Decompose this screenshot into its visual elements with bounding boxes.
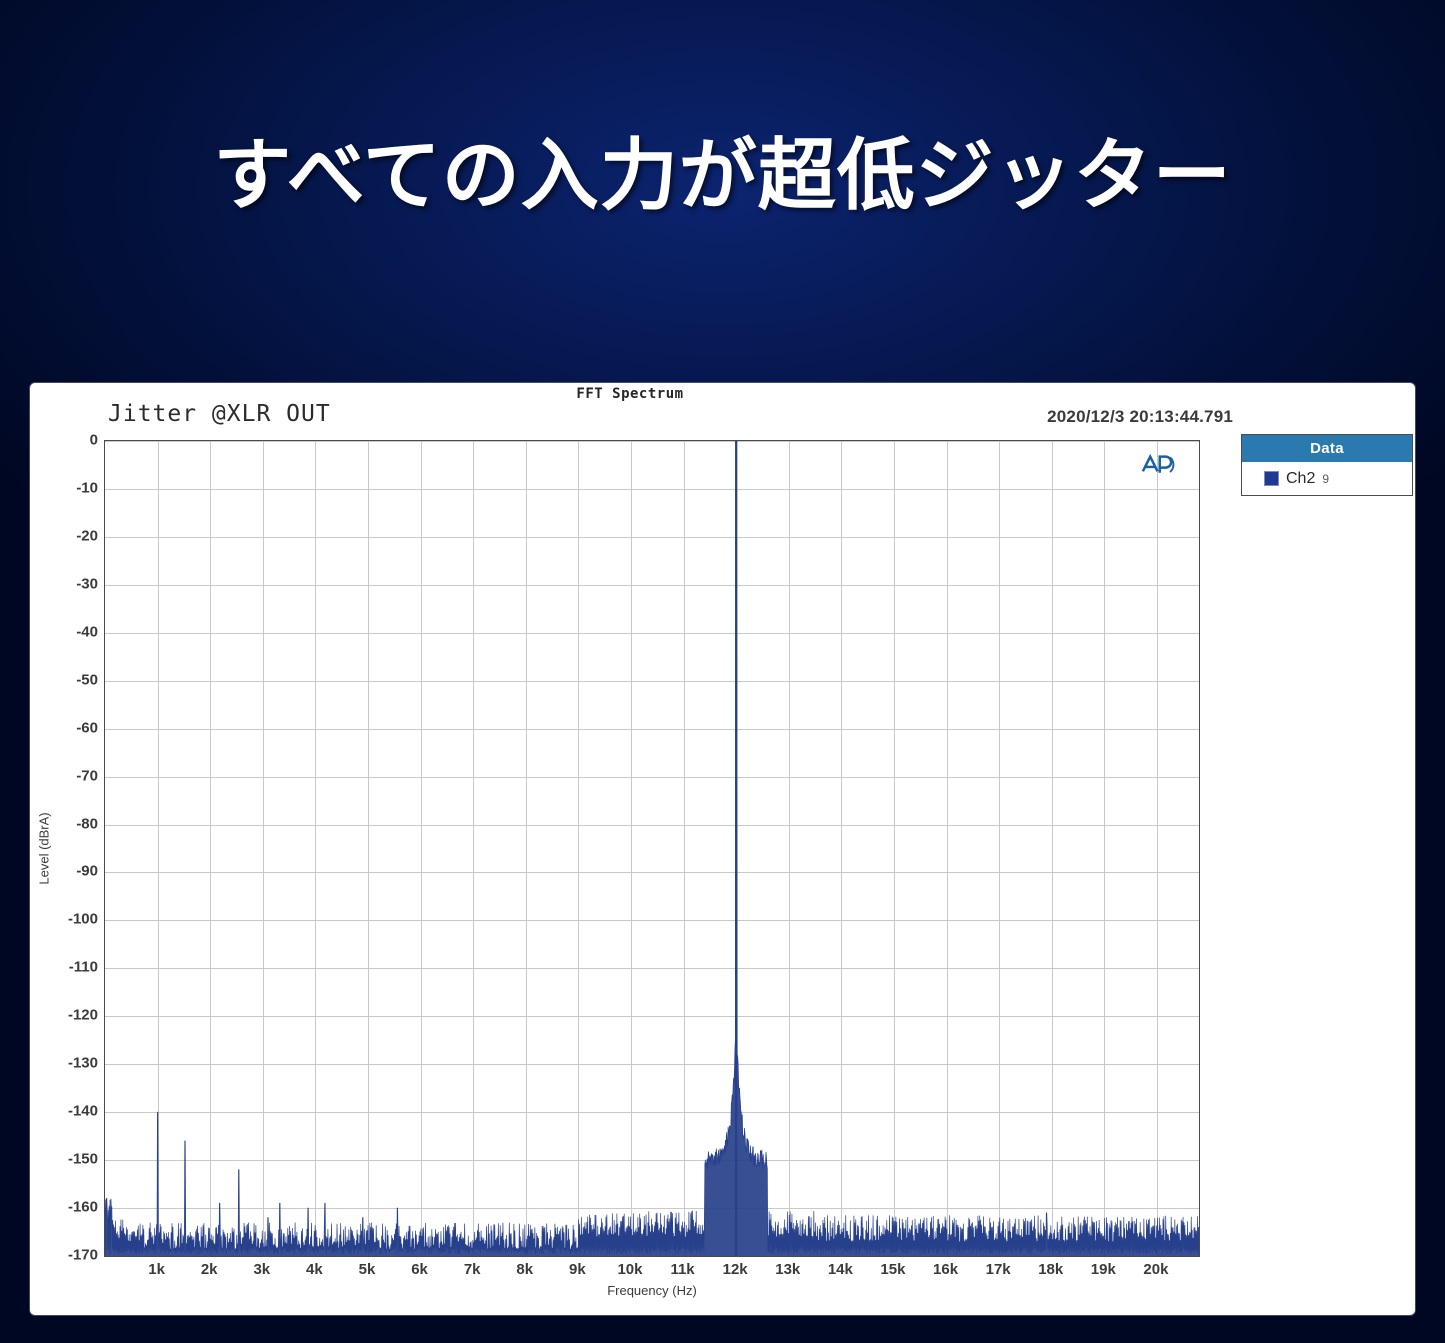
y-axis-tick-label: -50 — [36, 671, 98, 688]
y-axis-tick-label: -40 — [36, 623, 98, 640]
legend-header: Data — [1242, 435, 1412, 462]
x-axis-tick-label: 8k — [516, 1261, 533, 1278]
y-axis-tick-label: -70 — [36, 767, 98, 784]
gridline-horizontal — [105, 1256, 1199, 1257]
x-axis-tick-label: 11k — [670, 1261, 694, 1278]
x-axis-tick-label: 10k — [617, 1261, 642, 1278]
x-axis-tick-label: 19k — [1091, 1261, 1116, 1278]
x-axis-tick-label: 15k — [880, 1261, 905, 1278]
y-axis-tick-label: -110 — [36, 959, 98, 976]
ap-logo-icon — [1137, 449, 1181, 479]
legend-item-sublabel: 9 — [1322, 472, 1329, 486]
x-axis-tick-label: 9k — [569, 1261, 586, 1278]
legend-box[interactable]: Data Ch2 9 — [1241, 434, 1413, 496]
y-axis-tick-label: -130 — [36, 1055, 98, 1072]
y-axis-tick-label: -60 — [36, 719, 98, 736]
x-axis-tick-label: 12k — [723, 1261, 748, 1278]
x-axis-tick-label: 3k — [253, 1261, 270, 1278]
y-axis-tick-label: -10 — [36, 479, 98, 496]
legend-item-label: Ch2 — [1286, 470, 1315, 488]
x-axis-tick-label: 4k — [306, 1261, 323, 1278]
x-axis-tick-label: 17k — [986, 1261, 1011, 1278]
x-axis-label: Frequency (Hz) — [104, 1283, 1200, 1298]
y-axis-tick-label: -80 — [36, 815, 98, 832]
trace-ch2 — [105, 441, 1199, 1256]
y-axis-tick-label: -150 — [36, 1151, 98, 1168]
y-axis-tick-label: -140 — [36, 1103, 98, 1120]
spectrum-plot[interactable] — [104, 440, 1200, 1257]
chart-caption: Jitter @XLR OUT — [108, 401, 331, 427]
y-axis-tick-label: -30 — [36, 575, 98, 592]
spectrum-trace — [105, 441, 1199, 1256]
y-axis-tick-label: -170 — [36, 1247, 98, 1264]
x-axis-tick-label: 20k — [1143, 1261, 1168, 1278]
x-axis-tick-label: 6k — [411, 1261, 428, 1278]
x-axis-tick-label: 16k — [933, 1261, 958, 1278]
capture-timestamp: 2020/12/3 20:13:44.791 — [1047, 407, 1233, 427]
x-axis-tick-label: 2k — [201, 1261, 218, 1278]
x-axis-tick-label: 1k — [148, 1261, 165, 1278]
y-axis-tick-label: -20 — [36, 527, 98, 544]
x-axis-tick-label: 5k — [359, 1261, 376, 1278]
analyzer-panel: FFT Spectrum Jitter @XLR OUT 2020/12/3 2… — [30, 383, 1415, 1315]
x-axis-ticks: 1k2k3k4k5k6k7k8k9k10k11k12k13k14k15k16k1… — [104, 1261, 1200, 1285]
legend-color-swatch — [1264, 471, 1279, 486]
x-axis-tick-label: 18k — [1038, 1261, 1063, 1278]
y-axis-tick-label: 0 — [36, 432, 98, 449]
x-axis-tick-label: 13k — [775, 1261, 800, 1278]
y-axis-tick-label: -120 — [36, 1007, 98, 1024]
y-axis-ticks: 0-10-20-30-40-50-60-70-80-90-100-110-120… — [30, 440, 98, 1257]
chart-window-title: FFT Spectrum — [30, 386, 1230, 402]
y-axis-tick-label: -100 — [36, 911, 98, 928]
y-axis-tick-label: -160 — [36, 1199, 98, 1216]
x-axis-tick-label: 14k — [828, 1261, 853, 1278]
page-title: すべての入力が超低ジッター — [0, 136, 1445, 218]
x-axis-tick-label: 7k — [464, 1261, 481, 1278]
y-axis-tick-label: -90 — [36, 863, 98, 880]
legend-item[interactable]: Ch2 9 — [1242, 462, 1412, 495]
